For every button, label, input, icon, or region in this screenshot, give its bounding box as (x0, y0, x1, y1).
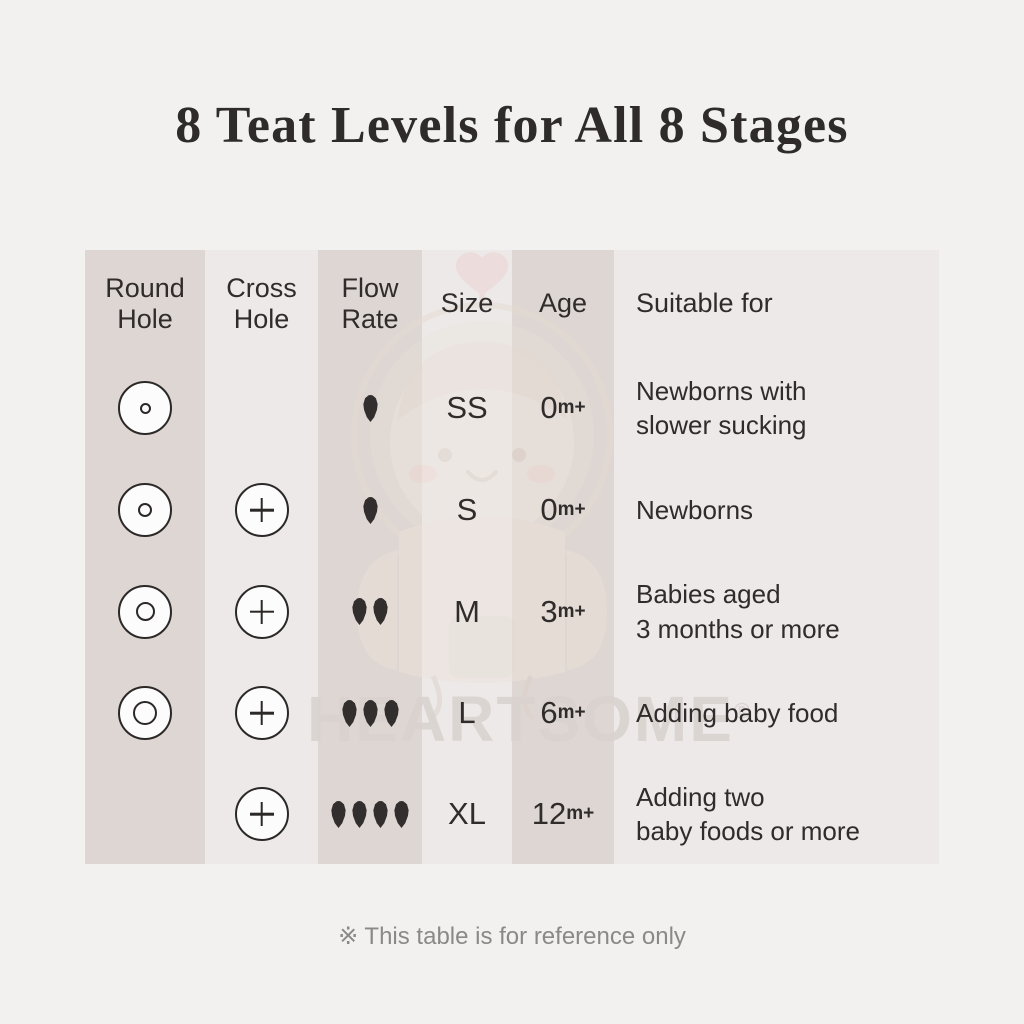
header-cross-hole: Cross Hole (205, 250, 318, 357)
age-unit: m (558, 397, 575, 419)
age-plus: + (575, 499, 586, 521)
cross-hole-icon (235, 686, 289, 740)
header-size: Size (422, 250, 512, 357)
page-title: 8 Teat Levels for All 8 Stages (0, 96, 1024, 155)
cell-size: S (422, 459, 512, 561)
header-age: Age (512, 250, 614, 357)
age-number: 6 (540, 695, 557, 731)
cell-cross-hole (205, 662, 318, 764)
cell-size: L (422, 662, 512, 764)
flow-drop-icon (330, 801, 347, 828)
round-hole-icon (118, 381, 172, 435)
cell-cross-hole (205, 357, 318, 459)
header-round-hole: Round Hole (85, 250, 205, 357)
flow-drop-icon (393, 801, 410, 828)
cell-age: 12m+ (512, 764, 614, 864)
round-hole-icon (118, 483, 172, 537)
table-grid: Round Hole Cross Hole Flow Rate Size Age… (85, 250, 939, 864)
round-hole-inner (136, 602, 155, 621)
flow-drops (351, 598, 389, 625)
cell-flow-rate (318, 459, 422, 561)
cell-flow-rate (318, 662, 422, 764)
flow-drop-icon (372, 801, 389, 828)
flow-drop-icon (372, 598, 389, 625)
cell-round-hole (85, 662, 205, 764)
age-unit: m (558, 499, 575, 521)
age-unit: m (566, 803, 583, 825)
flow-drops (362, 395, 379, 422)
age-plus: + (575, 601, 586, 623)
flow-drop-icon (362, 395, 379, 422)
cell-size: XL (422, 764, 512, 864)
cell-suitable-for: Newborns (614, 459, 939, 561)
cell-flow-rate (318, 357, 422, 459)
flow-drops (330, 801, 410, 828)
cell-cross-hole (205, 764, 318, 864)
cell-flow-rate (318, 764, 422, 864)
cell-age: 3m+ (512, 561, 614, 662)
age-unit: m (558, 702, 575, 724)
age-number: 12 (532, 796, 566, 832)
cell-suitable-for: Babies aged 3 months or more (614, 561, 939, 662)
cell-suitable-for: Adding baby food (614, 662, 939, 764)
cell-age: 6m+ (512, 662, 614, 764)
round-hole-icon (118, 585, 172, 639)
round-hole-inner (133, 701, 157, 725)
cell-round-hole (85, 561, 205, 662)
cell-age: 0m+ (512, 459, 614, 561)
header-flow-rate: Flow Rate (318, 250, 422, 357)
cell-cross-hole (205, 561, 318, 662)
flow-drop-icon (362, 700, 379, 727)
flow-drop-icon (362, 497, 379, 524)
age-number: 0 (540, 390, 557, 426)
teat-level-table: HEARTSOME® Round Hole Cross Hole Flow Ra… (85, 250, 939, 864)
flow-drop-icon (351, 598, 368, 625)
cross-hole-icon (235, 483, 289, 537)
cell-size: SS (422, 357, 512, 459)
flow-drop-icon (351, 801, 368, 828)
age-number: 0 (540, 492, 557, 528)
reference-note: ※ This table is for reference only (0, 922, 1024, 951)
age-plus: + (575, 397, 586, 419)
flow-drop-icon (383, 700, 400, 727)
teat-level-chart-page: 8 Teat Levels for All 8 Stages (0, 0, 1024, 1024)
flow-drops (362, 497, 379, 524)
round-hole-inner (138, 503, 152, 517)
cell-round-hole (85, 459, 205, 561)
round-hole-icon (118, 686, 172, 740)
flow-drops (341, 700, 400, 727)
cross-hole-icon (235, 787, 289, 841)
cell-age: 0m+ (512, 357, 614, 459)
cell-round-hole (85, 357, 205, 459)
age-number: 3 (540, 594, 557, 630)
age-plus: + (583, 803, 594, 825)
cross-hole-icon (235, 585, 289, 639)
age-unit: m (558, 601, 575, 623)
age-plus: + (575, 702, 586, 724)
flow-drop-icon (341, 700, 358, 727)
cell-suitable-for: Newborns with slower sucking (614, 357, 939, 459)
cell-size: M (422, 561, 512, 662)
cell-suitable-for: Adding two baby foods or more (614, 764, 939, 864)
cell-cross-hole (205, 459, 318, 561)
header-suitable-for: Suitable for (614, 250, 939, 357)
round-hole-inner (140, 403, 151, 414)
cell-round-hole (85, 764, 205, 864)
cell-flow-rate (318, 561, 422, 662)
